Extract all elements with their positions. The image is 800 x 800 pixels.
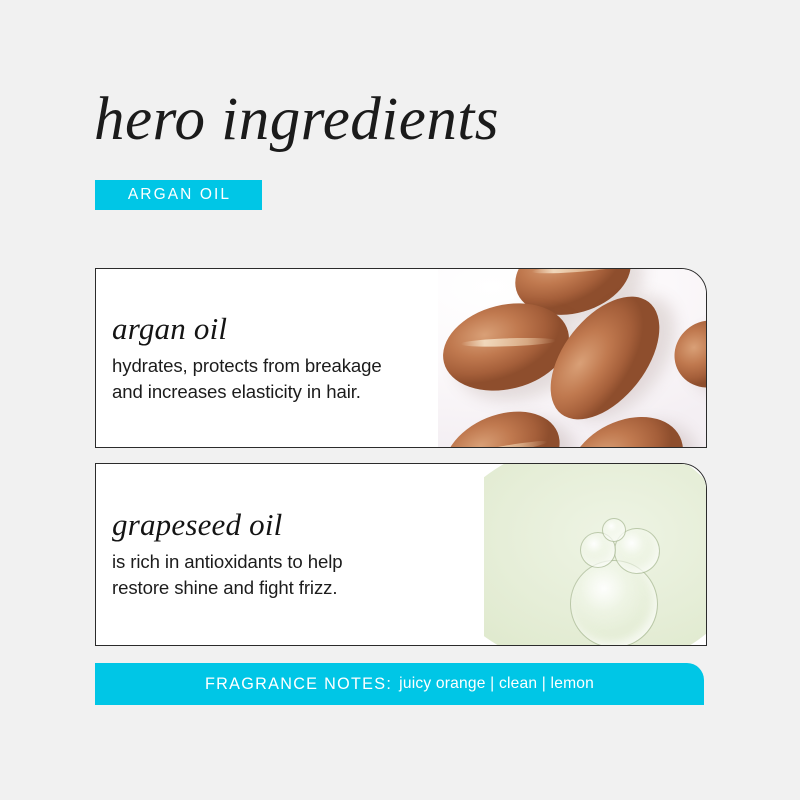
card-body-grapeseed-oil: is rich in antioxidants to help restore … <box>112 549 342 601</box>
hero-ingredients-page: hero ingredients ARGAN OIL argan oil hyd… <box>0 0 800 800</box>
card-body-argan-oil: hydrates, protects from breakage and inc… <box>112 353 382 405</box>
argan-nuts-photo <box>438 269 706 447</box>
oil-bubble-shape <box>570 560 658 645</box>
ingredient-card-argan-oil: argan oil hydrates, protects from breaka… <box>95 268 707 448</box>
card-title-argan-oil: argan oil <box>112 312 382 346</box>
argan-oil-badge: ARGAN OIL <box>95 180 262 210</box>
grapeseed-oil-droplet-photo <box>484 464 706 645</box>
fragrance-notes-value: juicy orange | clean | lemon <box>399 676 594 692</box>
ingredient-card-grapeseed-oil: grapeseed oil is rich in antioxidants to… <box>95 463 707 646</box>
oil-bubble-shape <box>602 518 626 542</box>
card-text-grapeseed: grapeseed oil is rich in antioxidants to… <box>112 464 342 645</box>
fragrance-notes-label: FRAGRANCE NOTES: <box>205 676 392 692</box>
fragrance-notes-banner: FRAGRANCE NOTES: juicy orange | clean | … <box>95 663 704 705</box>
page-title: hero ingredients <box>94 84 499 156</box>
card-title-grapeseed-oil: grapeseed oil <box>112 508 342 542</box>
badge-label: ARGAN OIL <box>126 187 231 203</box>
card-text-argan: argan oil hydrates, protects from breaka… <box>112 269 382 447</box>
argan-nut-shape <box>662 308 706 400</box>
